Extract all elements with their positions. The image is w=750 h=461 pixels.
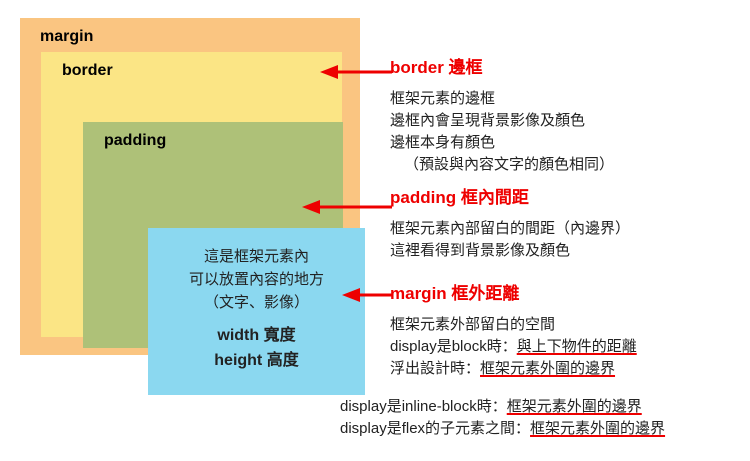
annotation-tail: display是inline-block時：框架元素外圍的邊界 display是… xyxy=(340,396,750,440)
annotation-border-line: 框架元素的邊框 xyxy=(390,88,750,110)
arrow-to-border-icon xyxy=(320,62,392,82)
border-layer: border padding 這是框架元素內 可以放置內容的地方 （文字、影像）… xyxy=(41,52,342,337)
annotation-margin-line: 浮出設計時：框架元素外圍的邊界 xyxy=(390,358,750,380)
annotation-border-line: 邊框本身有顏色 xyxy=(390,132,750,154)
annotation-tail-line: display是inline-block時：框架元素外圍的邊界 xyxy=(340,396,750,418)
content-text-line: 這是框架元素內 xyxy=(204,245,309,268)
arrow-to-padding-icon xyxy=(302,197,392,217)
annotation-border: border 邊框 框架元素的邊框 邊框內會呈現背景影像及顏色 邊框本身有顏色 … xyxy=(390,58,750,176)
box-model-diagram: margin border padding 這是框架元素內 可以放置內容的地方 … xyxy=(20,18,360,355)
annotation-margin: margin 框外距離 框架元素外部留白的空間 display是block時：與… xyxy=(390,284,750,380)
annotation-margin-line: display是block時：與上下物件的距離 xyxy=(390,336,750,358)
annotation-margin-line3-emphasis: 框架元素外圍的邊界 xyxy=(480,360,615,377)
border-layer-label: border xyxy=(62,63,113,79)
annotation-margin-heading: margin 框外距離 xyxy=(390,284,750,304)
annotation-margin-line2-prefix: display是block時： xyxy=(390,338,517,355)
content-text-line: 可以放置內容的地方 xyxy=(189,268,324,291)
content-height-label: height 高度 xyxy=(214,348,298,373)
annotation-margin-line2-emphasis: 與上下物件的距離 xyxy=(517,338,637,355)
annotation-tail-line2-emphasis: 框架元素外圍的邊界 xyxy=(530,420,665,437)
annotation-tail-line1-emphasis: 框架元素外圍的邊界 xyxy=(507,398,642,415)
annotation-border-line: （預設與內容文字的顏色相同） xyxy=(390,154,750,176)
content-width-label: width 寬度 xyxy=(217,323,295,348)
annotation-tail-line1-prefix: display是inline-block時： xyxy=(340,398,507,415)
content-layer: 這是框架元素內 可以放置內容的地方 （文字、影像） width 寬度 heigh… xyxy=(148,228,365,395)
content-text-line: （文字、影像） xyxy=(204,291,309,314)
annotation-column: border 邊框 框架元素的邊框 邊框內會呈現背景影像及顏色 邊框本身有顏色 … xyxy=(390,0,750,461)
annotation-border-heading: border 邊框 xyxy=(390,58,750,78)
padding-layer: padding 這是框架元素內 可以放置內容的地方 （文字、影像） width … xyxy=(83,122,343,348)
margin-layer-label: margin xyxy=(40,29,93,45)
annotation-padding: padding 框內間距 框架元素內部留白的間距（內邊界） 這裡看得到背景影像及… xyxy=(390,188,750,262)
annotation-padding-line: 這裡看得到背景影像及顏色 xyxy=(390,240,750,262)
arrow-to-margin-icon xyxy=(342,285,392,305)
padding-layer-label: padding xyxy=(104,133,166,149)
annotation-tail-line: display是flex的子元素之間：框架元素外圍的邊界 xyxy=(340,418,750,440)
annotation-border-line: 邊框內會呈現背景影像及顏色 xyxy=(390,110,750,132)
annotation-margin-line: 框架元素外部留白的空間 xyxy=(390,314,750,336)
annotation-padding-heading: padding 框內間距 xyxy=(390,188,750,208)
annotation-tail-line2-prefix: display是flex的子元素之間： xyxy=(340,420,530,437)
margin-layer: margin border padding 這是框架元素內 可以放置內容的地方 … xyxy=(20,18,360,355)
annotation-padding-line: 框架元素內部留白的間距（內邊界） xyxy=(390,218,750,240)
annotation-margin-line3-prefix: 浮出設計時： xyxy=(390,360,480,377)
